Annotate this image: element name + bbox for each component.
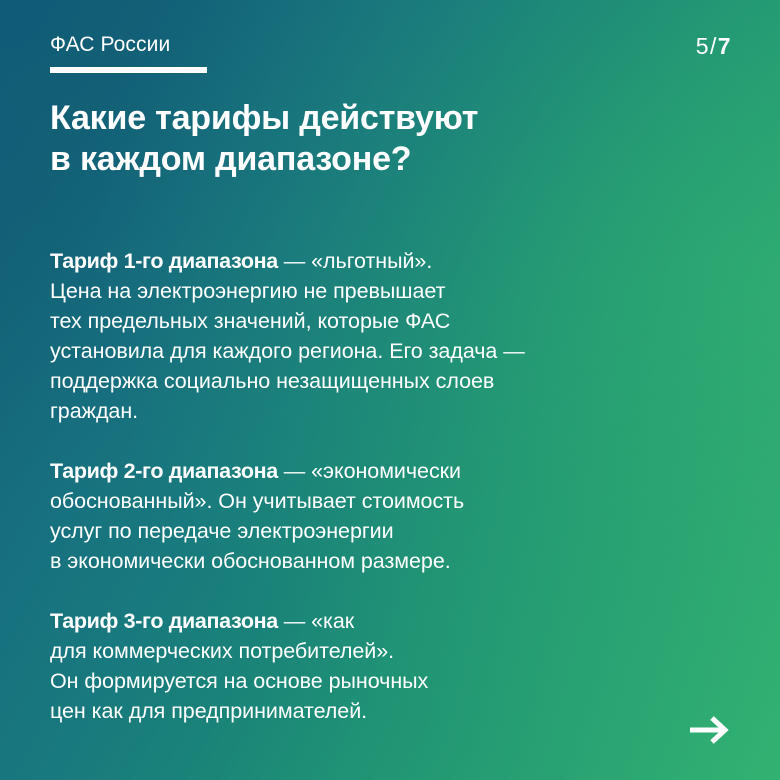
tariff-1-line-3: тех предельных значений, которые ФАС — [50, 306, 740, 336]
brand-name: ФАС России — [50, 33, 170, 57]
tariff-2-line-3: услуг по передаче электроэнергии — [50, 516, 740, 546]
tariff-1-line-2: Цена на электроэнергию не превышает — [50, 276, 740, 306]
page-title: Какие тарифы действуют в каждом диапазон… — [50, 98, 710, 180]
tariff-2-line-2: обоснованный». Он учитывает стоимость — [50, 486, 740, 516]
page-title-line-1: Какие тарифы действуют — [50, 98, 710, 139]
page-indicator: 5/7 — [696, 33, 731, 59]
body-content: Тариф 1-го диапазона — «льготный». Цена … — [50, 246, 740, 726]
tariff-2-line-4: в экономически обоснованном размере. — [50, 546, 740, 576]
tariff-paragraph-2: Тариф 2-го диапазона — «экономически обо… — [50, 456, 740, 576]
tariff-3-line-3: Он формируется на основе рыночных — [50, 666, 740, 696]
next-slide-button[interactable] — [688, 712, 732, 748]
brand-underline-rule — [50, 67, 207, 73]
tariff-3-line-4: цен как для предпринимателей. — [50, 696, 740, 726]
brand-block: ФАС России — [50, 33, 207, 73]
slide-card: ФАС России 5/7 Какие тарифы действуют в … — [0, 0, 780, 780]
page-title-line-2: в каждом диапазоне? — [50, 139, 710, 180]
tariff-3-line-2: для коммерческих потребителей». — [50, 636, 740, 666]
tariff-1-line-1: — «льготный». — [278, 249, 432, 273]
tariff-paragraph-1: Тариф 1-го диапазона — «льготный». Цена … — [50, 246, 740, 426]
tariff-1-lead: Тариф 1-го диапазона — [50, 249, 278, 273]
tariff-3-lead: Тариф 3-го диапазона — [50, 609, 278, 633]
page-indicator-total: 7 — [718, 33, 731, 59]
tariff-3-line-1: — «как — [278, 609, 354, 633]
slide-header: ФАС России 5/7 — [0, 0, 780, 90]
tariff-1-line-6: граждан. — [50, 396, 740, 426]
tariff-paragraph-3: Тариф 3-го диапазона — «как для коммерче… — [50, 606, 740, 726]
page-indicator-separator: / — [709, 33, 718, 59]
tariff-2-line-1: — «экономически — [278, 459, 461, 483]
tariff-1-line-4: установила для каждого региона. Его зада… — [50, 336, 740, 366]
page-indicator-current: 5 — [696, 33, 709, 59]
tariff-2-lead: Тариф 2-го диапазона — [50, 459, 278, 483]
tariff-1-line-5: поддержка социально незащищенных слоев — [50, 366, 740, 396]
arrow-right-icon — [688, 712, 732, 748]
